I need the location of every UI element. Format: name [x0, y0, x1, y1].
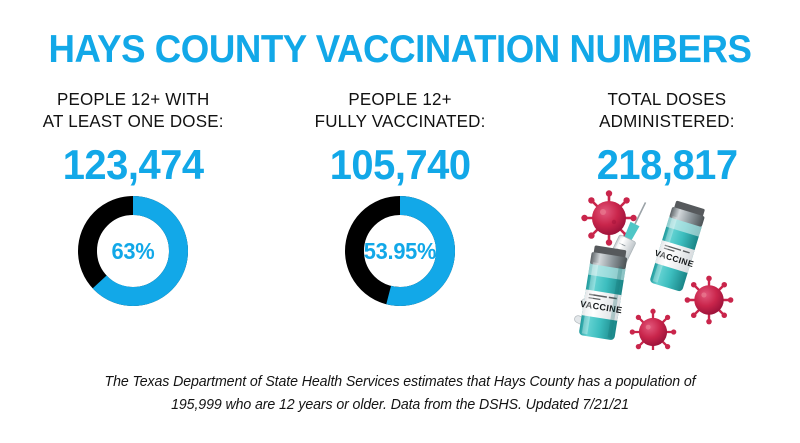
column-heading-total-doses: TOTAL DOSES ADMINISTERED: [599, 88, 735, 132]
heading-line-1: PEOPLE 12+ [315, 88, 486, 110]
stat-column-fully-vaccinated: PEOPLE 12+ FULLY VACCINATED: 105,740 53.… [267, 88, 534, 358]
stat-value-fully-vaccinated: 105,740 [330, 142, 471, 188]
vaccine-vial-front: VACCINE [575, 244, 631, 341]
vaccine-illustration-svg: VACCINE [567, 190, 767, 350]
stat-column-one-dose: PEOPLE 12+ WITH AT LEAST ONE DOSE: 123,4… [0, 88, 267, 358]
vaccine-illustration: VACCINE [567, 190, 767, 350]
stat-column-total-doses: TOTAL DOSES ADMINISTERED: 218,817 [533, 88, 800, 358]
infographic-canvas: HAYS COUNTY VACCINATION NUMBERS PEOPLE 1… [0, 0, 800, 443]
stat-value-one-dose: 123,474 [63, 142, 204, 188]
donut-percent-label-fully-vaccinated: 53.95% [348, 196, 453, 306]
footer-note: The Texas Department of State Health Ser… [12, 371, 788, 417]
footer-line-2: 195,999 who are 12 years or older. Data … [12, 394, 788, 417]
coronavirus-icon [629, 309, 676, 350]
donut-percent-label-one-dose: 63% [81, 196, 186, 306]
donut-chart-fully-vaccinated: 53.95% [345, 196, 455, 306]
heading-line-2: FULLY VACCINATED: [315, 110, 486, 132]
heading-line-2: AT LEAST ONE DOSE: [43, 110, 224, 132]
coronavirus-icon [684, 276, 733, 325]
heading-line-1: TOTAL DOSES [599, 88, 735, 110]
footer-line-1: The Texas Department of State Health Ser… [12, 371, 788, 394]
stats-columns: PEOPLE 12+ WITH AT LEAST ONE DOSE: 123,4… [0, 88, 800, 358]
page-title: HAYS COUNTY VACCINATION NUMBERS [24, 28, 776, 72]
column-heading-fully-vaccinated: PEOPLE 12+ FULLY VACCINATED: [315, 88, 486, 132]
heading-line-1: PEOPLE 12+ WITH [43, 88, 224, 110]
column-heading-one-dose: PEOPLE 12+ WITH AT LEAST ONE DOSE: [43, 88, 224, 132]
heading-line-2: ADMINISTERED: [599, 110, 735, 132]
stat-value-total-doses: 218,817 [596, 142, 737, 188]
donut-chart-one-dose: 63% [78, 196, 188, 306]
vaccine-vial-back: VACCINE [646, 199, 710, 293]
